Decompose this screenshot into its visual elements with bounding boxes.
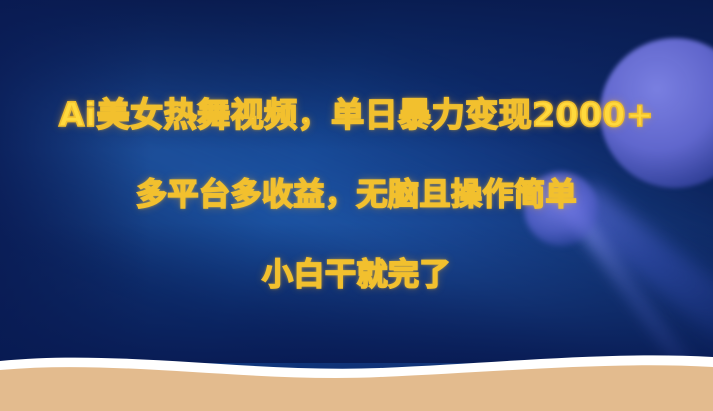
- bottom-wave-layer: [0, 331, 713, 411]
- headline-line-2: 多平台多收益，无脑且操作简单: [0, 180, 713, 211]
- promo-banner: Ai美女热舞视频，单日暴力变现2000+ 多平台多收益，无脑且操作简单 小白干就…: [0, 0, 713, 411]
- headline-block: Ai美女热舞视频，单日暴力变现2000+ 多平台多收益，无脑且操作简单 小白干就…: [0, 98, 713, 291]
- headline-line-1: Ai美女热舞视频，单日暴力变现2000+: [0, 98, 713, 131]
- headline-line-3: 小白干就完了: [0, 260, 713, 291]
